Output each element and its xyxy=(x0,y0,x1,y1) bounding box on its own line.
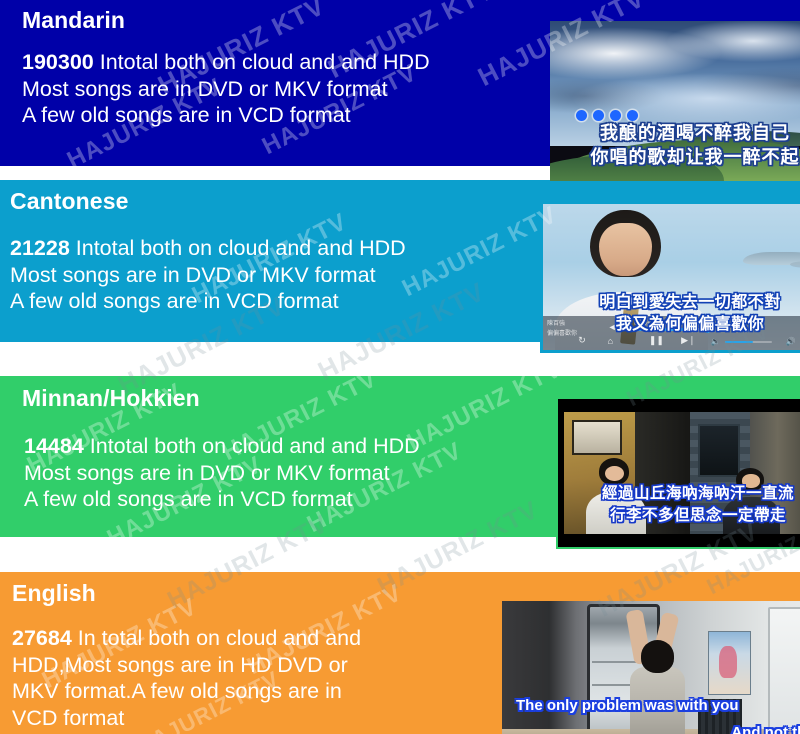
mandarin-lyric-line-1: 我酿的酒喝不醉我自己 xyxy=(550,119,800,145)
cantonese-lyric-line-1: 明白到愛失去一切都不對 xyxy=(543,288,800,312)
panel-english-line-2: HDD,Most songs are in HD DVD or xyxy=(12,652,452,679)
panel-minnan-line-1: 14484 Intotal both on cloud and and HDD xyxy=(24,433,519,460)
minnan-lyric-line-2: 行李不多但思念一定帶走 xyxy=(558,503,800,525)
panel-minnan-line-2: Most songs are in DVD or MKV format xyxy=(24,460,519,487)
panel-mandarin-line-1: 190300 Intotal both on cloud and and HDD xyxy=(22,49,522,76)
panel-mandarin-line-1-rest: Intotal both on cloud and and HDD xyxy=(94,50,430,74)
panel-mandarin-line-2: Most songs are in DVD or MKV format xyxy=(22,76,522,103)
panel-minnan-line-3: A few old songs are in VCD format xyxy=(24,486,519,513)
cantonese-lyric-line-2: 我又為何偏偏喜歡你 xyxy=(543,310,800,334)
minnan-karaoke-thumbnail: 經過山丘海吶海吶汗一直流 行李不多但思念一定帶走 xyxy=(556,397,800,549)
pause-icon[interactable]: ❚❚ xyxy=(649,335,664,346)
panel-mandarin-description: 190300 Intotal both on cloud and and HDD… xyxy=(22,49,522,129)
room-door-art xyxy=(768,607,800,734)
ktv-language-catalog-poster: Mandarin 190300 Intotal both on cloud an… xyxy=(0,0,800,734)
singer-face-art xyxy=(599,223,652,276)
panel-mandarin-song-count: 190300 xyxy=(22,50,94,74)
home-icon[interactable]: ⌂ xyxy=(608,336,613,346)
next-track-icon[interactable]: ▶❘ xyxy=(681,335,695,346)
panel-english-description: 27684 In total both on cloud and and HDD… xyxy=(12,625,452,731)
volume-down-icon[interactable]: 🔈 xyxy=(711,337,721,346)
panel-english-song-count: 27684 xyxy=(12,626,72,650)
english-lyric-line-1: The only problem was with you xyxy=(502,697,800,714)
repeat-icon[interactable]: ↻ xyxy=(578,335,586,346)
english-karaoke-thumbnail: The only problem was with you And not th… xyxy=(502,601,800,734)
window-art xyxy=(572,420,623,456)
panel-english-line-1: 27684 In total both on cloud and and xyxy=(12,625,452,652)
panel-mandarin-line-3: A few old songs are in VCD format xyxy=(22,102,522,129)
person-hair-art xyxy=(641,640,675,673)
volume-up-icon[interactable]: 🔊 xyxy=(786,337,796,346)
panel-cantonese-description: 21228 Intotal both on cloud and and HDD … xyxy=(10,235,505,315)
panel-cantonese-line-1-rest: Intotal both on cloud and and HDD xyxy=(70,236,406,260)
panel-minnan-description: 14484 Intotal both on cloud and and HDD … xyxy=(22,433,519,513)
panel-english-line-4: VCD format xyxy=(12,705,452,732)
panel-minnan-song-count: 14484 xyxy=(24,434,84,458)
panel-cantonese-song-count: 21228 xyxy=(10,236,70,260)
minnan-lyric-line-1: 經過山丘海吶海吶汗一直流 xyxy=(558,481,800,503)
panel-cantonese-line-2: Most songs are in DVD or MKV format xyxy=(10,262,505,289)
wall-poster-art xyxy=(708,631,751,696)
panel-english-line-3: MKV format.A few old songs are in xyxy=(12,678,452,705)
door-art xyxy=(698,424,740,477)
english-lyric-line-2: And not them xyxy=(502,724,800,734)
panel-cantonese-line-3: A few old songs are in VCD format xyxy=(10,288,505,315)
panel-english-line-1-rest: In total both on cloud and and xyxy=(72,626,361,650)
mandarin-karaoke-thumbnail: 我酿的酒喝不醉我自己 你唱的歌却让我一醉不起 xyxy=(550,21,800,181)
panel-cantonese-line-1: 21228 Intotal both on cloud and and HDD xyxy=(10,235,505,262)
cantonese-karaoke-thumbnail: 明白到愛失去一切都不對 我又為何偏偏喜歡你 陳百強 偏偏喜歡你 00:00:51… xyxy=(540,201,800,353)
volume-slider[interactable] xyxy=(725,341,772,344)
mandarin-lyric-line-2: 你唱的歌却让我一醉不起 xyxy=(550,143,800,169)
panel-minnan-line-1-rest: Intotal both on cloud and and HDD xyxy=(84,434,420,458)
